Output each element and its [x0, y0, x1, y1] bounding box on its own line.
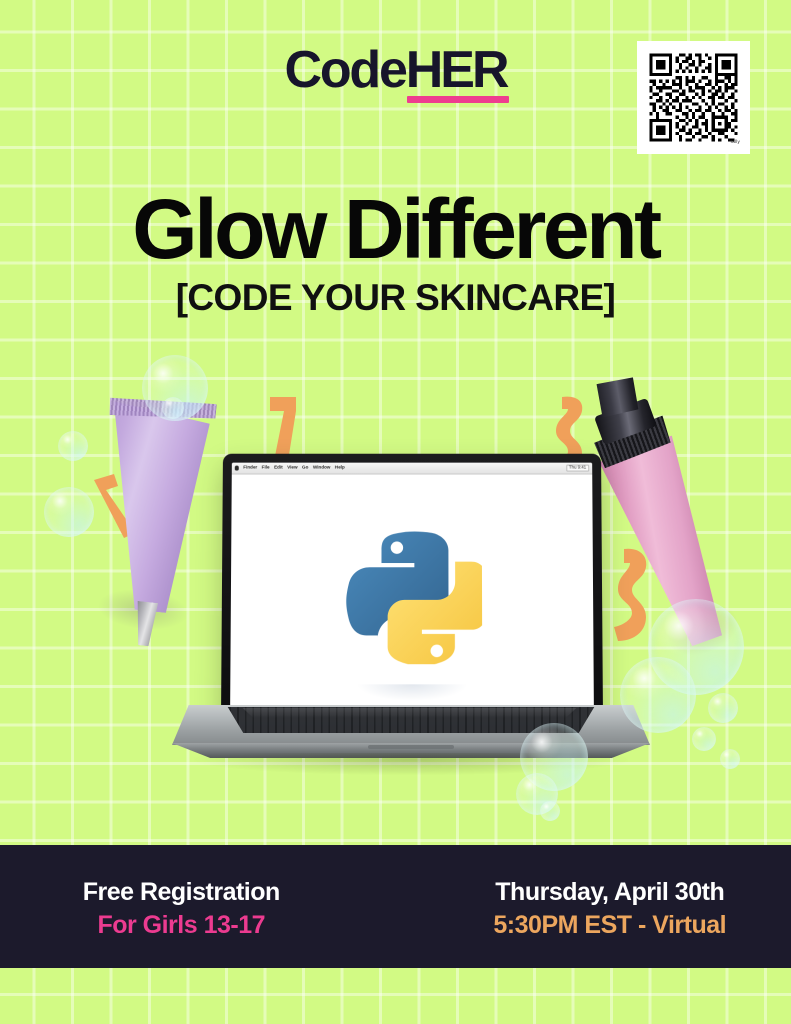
brand-logo-suffix: HER — [406, 41, 507, 99]
menu-item-go[interactable]: Go — [302, 466, 308, 471]
apple-icon[interactable] — [235, 466, 239, 471]
footer-event-date: Thursday, April 30th — [429, 876, 791, 909]
laptop-keyboard-gloss — [232, 708, 587, 718]
bubble — [720, 749, 740, 769]
brand-logo-underline — [407, 96, 509, 103]
menu-bar-clock[interactable]: Thu 9:41 — [566, 464, 589, 471]
footer-registration-eligibility: For Girls 13-17 — [0, 909, 363, 942]
menu-item-view[interactable]: View — [287, 466, 297, 471]
laptop-front-notch — [368, 745, 454, 749]
footer-event-time: 5:30PM EST - Virtual — [429, 909, 791, 942]
bubble — [540, 801, 560, 821]
menu-item-finder[interactable]: Finder — [243, 466, 257, 471]
laptop-lid: Finder File Edit View Go Window Help Thu… — [221, 454, 603, 714]
laptop-screen: Finder File Edit View Go Window Help Thu… — [230, 463, 594, 707]
bubble — [620, 657, 696, 733]
bubble — [44, 487, 94, 537]
poster-canvas: CodeHER — [0, 0, 791, 1024]
footer-registration-title: Free Registration — [0, 876, 363, 909]
python-logo-reflection — [358, 684, 466, 700]
mac-menu-bar[interactable]: Finder File Edit View Go Window Help Thu… — [232, 463, 592, 475]
menu-item-file[interactable]: File — [262, 466, 270, 471]
brand-logo-prefix: Code — [285, 41, 406, 99]
page-title: Glow Different — [0, 185, 791, 274]
poster-footer: Free Registration For Girls 13-17 Thursd… — [0, 845, 791, 968]
menu-item-edit[interactable]: Edit — [274, 466, 283, 471]
hero-illustration: Finder File Edit View Go Window Help Thu… — [0, 335, 791, 845]
poster-header: CodeHER — [0, 0, 791, 170]
menu-item-window[interactable]: Window — [313, 466, 331, 471]
bubble — [58, 431, 88, 461]
qr-code-card[interactable]: Tally — [637, 41, 750, 154]
menu-item-help[interactable]: Help — [335, 466, 345, 471]
bubble — [692, 727, 716, 751]
footer-registration-block: Free Registration For Girls 13-17 — [0, 872, 411, 942]
qr-watermark: Tally — [730, 140, 740, 145]
qr-code[interactable]: Tally — [646, 50, 741, 145]
brand-logo-suffix-wrap: HER — [406, 44, 507, 96]
bubble — [162, 397, 184, 419]
page-subtitle: [CODE YOUR SKINCARE] — [0, 278, 791, 319]
python-logo-icon — [342, 524, 482, 664]
footer-datetime-block: Thursday, April 30th 5:30PM EST - Virtua… — [411, 872, 791, 942]
laptop: Finder File Edit View Go Window Help Thu… — [172, 453, 650, 773]
bubble — [708, 693, 738, 723]
